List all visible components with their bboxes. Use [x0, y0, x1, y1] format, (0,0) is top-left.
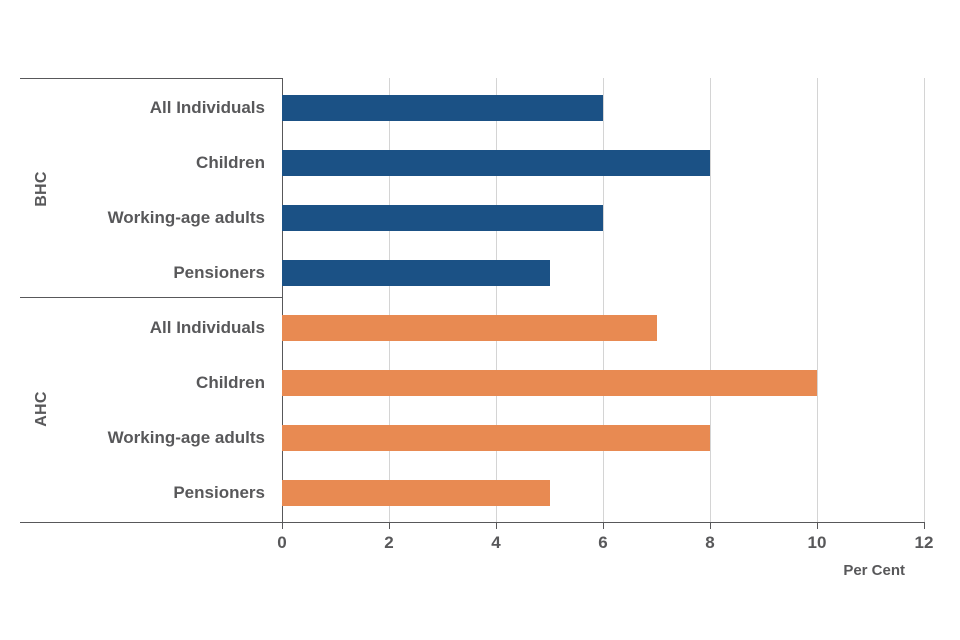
group-rule-middle — [20, 297, 283, 298]
tick-label-12: 12 — [894, 533, 954, 553]
gridline-10 — [817, 78, 818, 522]
tick-mark-0 — [282, 522, 283, 529]
gridline-0 — [282, 78, 283, 522]
bar-chart: All Individuals Children Working-age adu… — [0, 0, 960, 640]
tick-label-2: 2 — [359, 533, 419, 553]
group-rule-top — [20, 78, 283, 79]
tick-label-6: 6 — [573, 533, 633, 553]
x-axis-title: Per Cent — [625, 562, 905, 579]
gridline-8 — [710, 78, 711, 522]
tick-mark-10 — [817, 522, 818, 529]
bar-bhc-pensioners[interactable] — [282, 260, 550, 286]
category-label-bhc-pensioners: Pensioners — [0, 260, 265, 286]
tick-mark-2 — [389, 522, 390, 529]
bar-ahc-working-age-adults[interactable] — [282, 425, 710, 451]
gridline-12 — [924, 78, 925, 522]
group-label-bhc: BHC — [33, 169, 51, 209]
category-label-ahc-all-individuals: All Individuals — [0, 315, 265, 341]
tick-mark-6 — [603, 522, 604, 529]
group-label-ahc: AHC — [33, 389, 51, 429]
gridline-2 — [389, 78, 390, 522]
tick-label-4: 4 — [466, 533, 526, 553]
tick-label-0: 0 — [252, 533, 312, 553]
tick-mark-8 — [710, 522, 711, 529]
bar-bhc-children[interactable] — [282, 150, 710, 176]
category-label-ahc-pensioners: Pensioners — [0, 480, 265, 506]
tick-mark-4 — [496, 522, 497, 529]
gridline-4 — [496, 78, 497, 522]
tick-mark-12 — [924, 522, 925, 529]
bar-bhc-working-age-adults[interactable] — [282, 205, 603, 231]
category-label-bhc-all-individuals: All Individuals — [0, 95, 265, 121]
plot-area — [282, 78, 924, 522]
x-axis-line — [20, 522, 925, 523]
bar-ahc-children[interactable] — [282, 370, 817, 396]
bar-ahc-all-individuals[interactable] — [282, 315, 657, 341]
bar-bhc-all-individuals[interactable] — [282, 95, 603, 121]
bar-ahc-pensioners[interactable] — [282, 480, 550, 506]
gridline-6 — [603, 78, 604, 522]
tick-label-10: 10 — [787, 533, 847, 553]
tick-label-8: 8 — [680, 533, 740, 553]
